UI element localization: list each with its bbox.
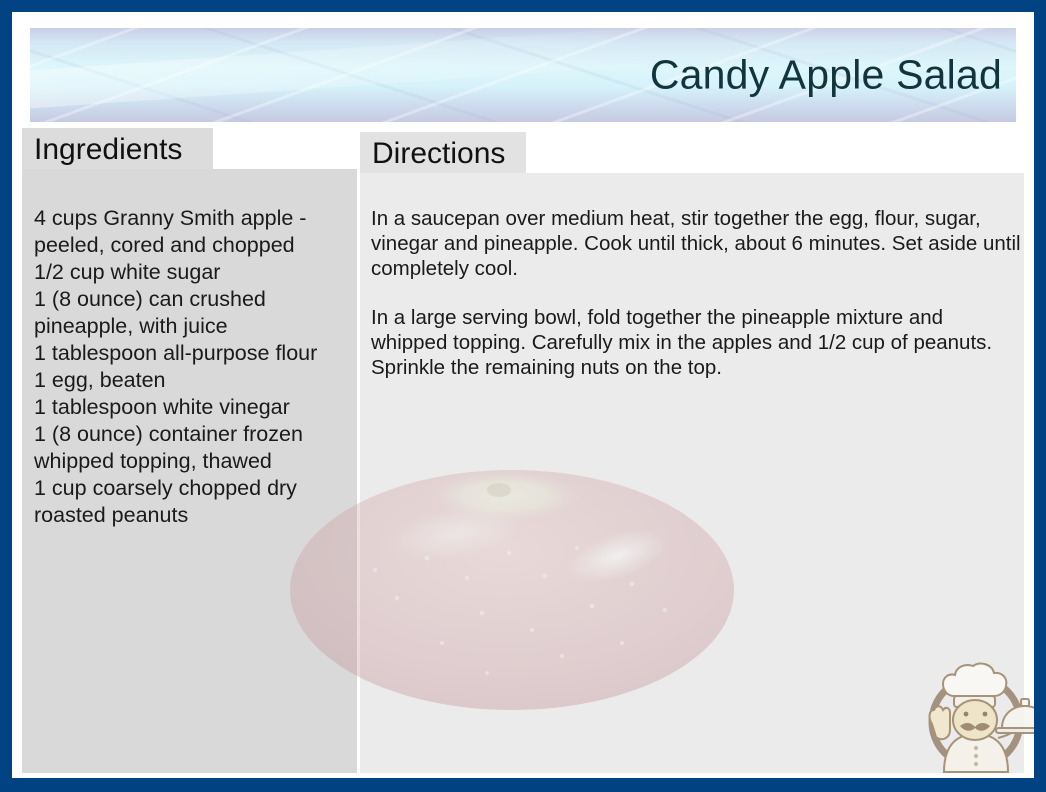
ingredient-item: 1 (8 ounce) container frozen whipped top… xyxy=(34,421,350,475)
recipe-page: Candy Apple Salad Ingredients Directions xyxy=(12,12,1034,778)
section-tab-ingredients: Ingredients xyxy=(22,128,213,170)
ingredients-list: 4 cups Granny Smith apple - peeled, core… xyxy=(34,205,350,529)
directions-steps: In a saucepan over medium heat, stir tog… xyxy=(371,206,1023,380)
direction-step: In a saucepan over medium heat, stir tog… xyxy=(371,206,1023,281)
ingredient-item: 1 tablespoon all-purpose flour xyxy=(34,340,350,367)
ingredient-item: 1 tablespoon white vinegar xyxy=(34,394,350,421)
recipe-card: Candy Apple Salad Ingredients Directions xyxy=(0,0,1046,792)
ingredient-item: 1/2 cup white sugar xyxy=(34,259,350,286)
direction-step: In a large serving bowl, fold together t… xyxy=(371,305,1023,380)
ingredient-item: 1 (8 ounce) can crushed pineapple, with … xyxy=(34,286,350,340)
ingredients-heading: Ingredients xyxy=(34,133,182,166)
ingredient-item: 4 cups Granny Smith apple - peeled, core… xyxy=(34,205,350,259)
ingredient-item: 1 egg, beaten xyxy=(34,367,350,394)
section-tab-directions: Directions xyxy=(360,132,526,174)
page-title: Candy Apple Salad xyxy=(650,55,1002,96)
header-banner: Candy Apple Salad xyxy=(30,28,1016,122)
ingredient-item: 1 cup coarsely chopped dry roasted peanu… xyxy=(34,475,350,529)
directions-heading: Directions xyxy=(372,137,505,170)
